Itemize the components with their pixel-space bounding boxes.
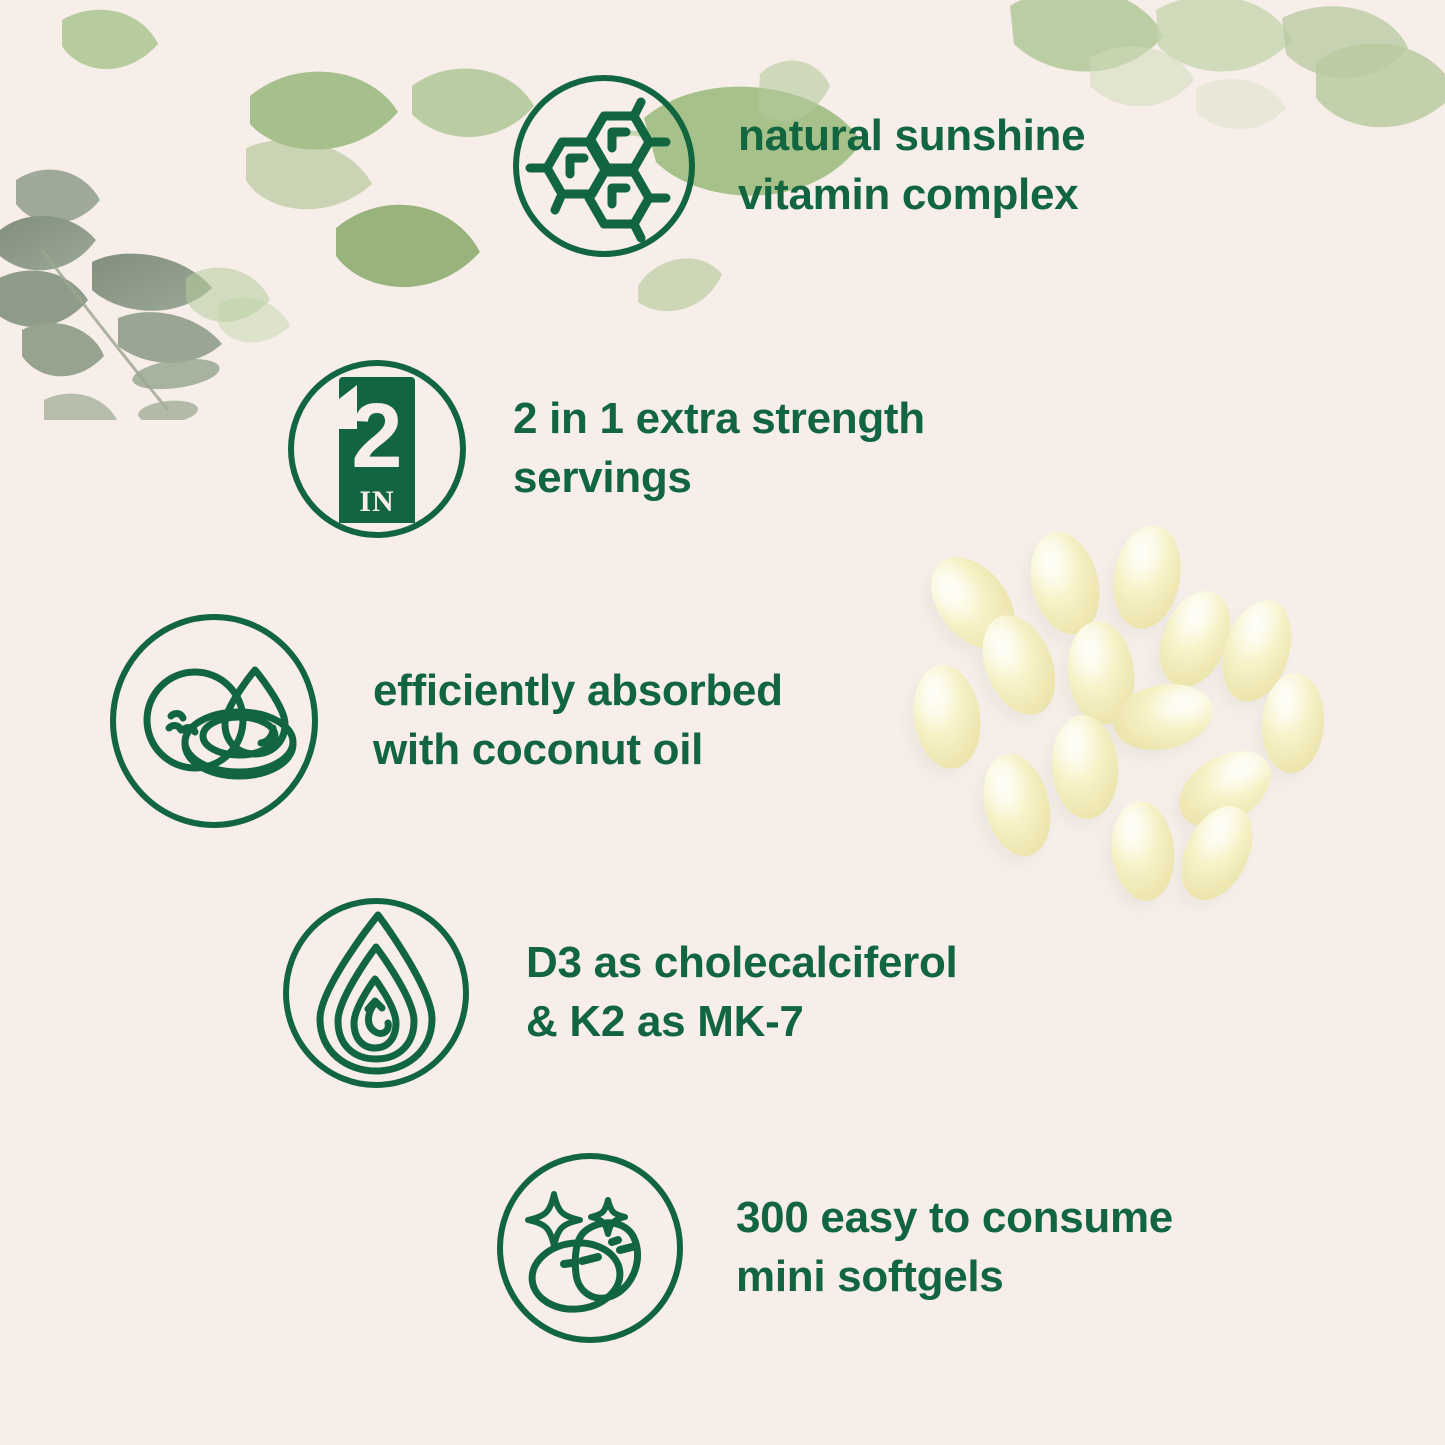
feature-label: natural sunshine vitamin complex [738, 107, 1085, 225]
feature-label: 2 in 1 extra strength servings [513, 390, 925, 508]
feature-label: D3 as cholecalciferol & K2 as MK-7 [526, 934, 957, 1052]
two-in-one-badge-icon: 2 IN [283, 355, 471, 543]
feature-row-d3-k2: D3 as cholecalciferol & K2 as MK-7 [278, 895, 957, 1091]
coconut-oil-droplet-icon [105, 612, 323, 830]
feature-row-two-in-one: 2 IN 2 in 1 extra strength servings [283, 355, 925, 543]
molecule-hexagons-icon [508, 70, 700, 262]
spiral-droplet-icon [278, 895, 474, 1091]
badge-word: IN [359, 485, 394, 518]
sparkling-softgels-icon [492, 1150, 688, 1346]
feature-row-natural-sunshine: natural sunshine vitamin complex [508, 70, 1085, 262]
feature-label: 300 easy to consume mini softgels [736, 1189, 1173, 1307]
badge-numeral: 2 [351, 385, 402, 487]
softgel-capsules-pile [895, 505, 1325, 935]
feature-row-coconut-oil: efficiently absorbed with coconut oil [105, 612, 783, 830]
product-infographic: natural sunshine vitamin complex 2 IN 2 … [0, 0, 1445, 1445]
feature-label: efficiently absorbed with coconut oil [373, 662, 783, 780]
feature-row-mini-softgels: 300 easy to consume mini softgels [492, 1150, 1173, 1346]
